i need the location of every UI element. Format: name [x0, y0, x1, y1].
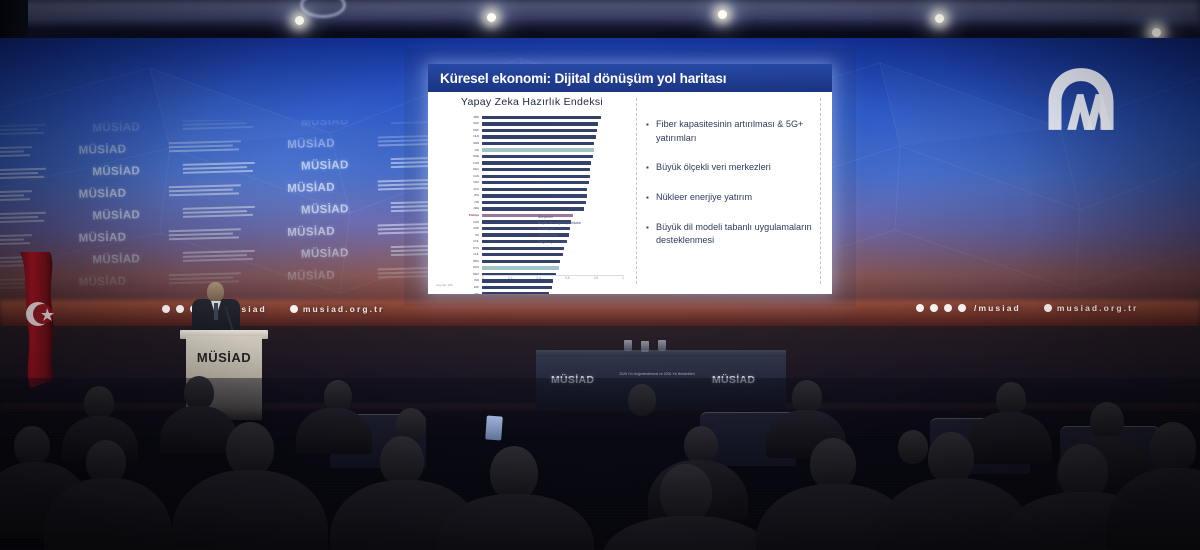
- chart-bar: [482, 266, 559, 269]
- website-group: musiad.org.tr: [1044, 303, 1139, 313]
- chart-bar-label: CHN: [460, 221, 482, 224]
- chart-legend-item: Regülasyon & etik: [538, 239, 581, 245]
- globe-icon: [290, 305, 298, 313]
- chart-bar-label: ZAF: [460, 286, 482, 289]
- audience-head: [628, 384, 656, 416]
- table-subtitle: 2025 Yılı Değerlendirmesi ve 2026 Yılı B…: [616, 372, 698, 377]
- twitter-icon: [930, 304, 938, 312]
- chart-bar-label: JPN: [460, 194, 482, 197]
- ai-readiness-chart: Yapay Zeka Hazırlık Endeksi ABDSGPDNKNLD…: [434, 94, 630, 292]
- chart-x-ticks: 00,20,40,60,81: [482, 276, 624, 280]
- facebook-icon: [916, 304, 924, 312]
- audience-head: [184, 376, 214, 410]
- chart-bar-label: AUS: [460, 188, 482, 191]
- ceiling-spotlight: [935, 14, 944, 23]
- chart-bar: [482, 161, 591, 164]
- chart-bar: [482, 135, 596, 138]
- website-url: musiad.org.tr: [1057, 303, 1139, 313]
- bullet-marker-icon: ▪: [646, 161, 656, 175]
- chart-bar-label: POL: [460, 240, 482, 243]
- audience-head: [660, 464, 712, 522]
- audience-head: [810, 438, 856, 490]
- audience-head: [14, 426, 50, 466]
- turkish-flag: [14, 252, 68, 388]
- social-handle: /musiad: [974, 303, 1021, 313]
- chart-bar-label: MYS: [460, 247, 482, 250]
- chart-bar: [482, 188, 587, 191]
- slide-bullet-text: Büyük dil modeli tabanlı uygulamaların d…: [656, 221, 818, 248]
- website-group: musiad.org.tr: [290, 304, 385, 314]
- chart-x-tick-label: 1: [622, 276, 624, 280]
- podium-logo: MÜSİAD: [186, 350, 262, 365]
- chart-x-tick-label: 0,8: [594, 276, 598, 280]
- chart-bar-label: RUS: [460, 266, 482, 269]
- slide-body: Yapay Zeka Hazırlık Endeksi ABDSGPDNKNLD…: [428, 92, 832, 294]
- chart-bar-label: Türkiye: [460, 214, 482, 217]
- chart-x-tick-label: 0,6: [565, 276, 569, 280]
- chart-x-tick-label: 0,2: [508, 276, 512, 280]
- youtube-icon: [958, 304, 966, 312]
- audience-phone: [485, 415, 503, 440]
- slide-bullet-list: ▪Fiber kapasitesinin artırılması & 5G+ y…: [646, 118, 818, 264]
- chart-bar: [482, 116, 601, 119]
- chart-bar: [482, 155, 593, 158]
- slide-bullet: ▪Büyük dil modeli tabanlı uygulamaların …: [646, 221, 818, 248]
- chart-bar: [482, 142, 594, 145]
- chart-bar-label: BRA: [460, 260, 482, 263]
- chart-bar-label: ABD: [460, 116, 482, 119]
- chart-bar-label: ITA: [460, 234, 482, 237]
- chart-bar: [482, 260, 560, 263]
- audience-head: [684, 426, 718, 464]
- audience-head: [380, 436, 424, 486]
- conference-hall-scene: MÜSİAD MÜSİAD MÜSİAD MÜSİAD MÜSİAD MÜSİA…: [0, 0, 1200, 550]
- chart-bar: [482, 201, 586, 204]
- slide-bullet-text: Büyük ölçekli veri merkezleri: [656, 161, 771, 175]
- slide-divider-right: [820, 98, 821, 284]
- slide-bullet: ▪Büyük ölçekli veri merkezleri: [646, 161, 818, 175]
- facebook-icon: [162, 305, 170, 313]
- social-bar-right: /musiad musiad.org.tr: [916, 303, 1138, 313]
- chart-bar-label: SGP: [460, 122, 482, 125]
- speaker-head: [207, 282, 224, 302]
- bullet-marker-icon: ▪: [646, 221, 656, 248]
- audience-head: [84, 386, 114, 420]
- chart-legend: BileşenlerBeşeri sermaye & politikalarİn…: [538, 214, 581, 245]
- chart-bar-label: NLD: [460, 135, 482, 138]
- water-glass: [641, 341, 649, 352]
- slide-title: Küresel ekonomi: Dijital dönüşüm yol har…: [428, 71, 726, 86]
- chart-bar-label: KOR: [460, 162, 482, 165]
- audience-head: [226, 422, 274, 476]
- chart-bar-row: IDN: [460, 291, 624, 294]
- audience-head: [928, 432, 974, 484]
- chart-footnote: Kaynak: IMF: [436, 283, 453, 287]
- slide-bullet: ▪Nükleer enerjiye yatırım: [646, 191, 818, 205]
- ceiling-spotlight: [295, 16, 304, 25]
- ceiling-shadow-band: [0, 18, 1200, 40]
- audience-head: [792, 380, 822, 414]
- chart-title: Yapay Zeka Hazırlık Endeksi: [434, 96, 630, 108]
- chart-bar: [482, 175, 590, 178]
- chart-x-tick-label: 0,4: [536, 276, 540, 280]
- audience-head: [996, 382, 1026, 416]
- chart-x-tick-label: 0: [482, 276, 484, 280]
- ceiling-spotlight: [718, 10, 727, 19]
- audience-head: [1090, 402, 1124, 440]
- chart-bar: [482, 129, 597, 132]
- chart-bar: [482, 207, 584, 210]
- audience-head: [1150, 422, 1196, 474]
- website-url: musiad.org.tr: [303, 304, 385, 314]
- slide-bullet-text: Nükleer enerjiye yatırım: [656, 191, 752, 205]
- chart-bar-label: DNK: [460, 129, 482, 132]
- chart-bar-label: IND: [460, 279, 482, 282]
- chart-bar-label: ISR: [460, 201, 482, 204]
- speaker-tie: [214, 303, 218, 320]
- ceiling-spotlight: [1152, 28, 1161, 37]
- chart-bar-label: FIN: [460, 149, 482, 152]
- chart-bar-label: CHL: [460, 253, 482, 256]
- audience-head: [898, 430, 928, 464]
- chart-bar: [482, 194, 587, 197]
- chart-bar: [482, 247, 564, 250]
- chart-bar-label: GBR: [460, 142, 482, 145]
- water-glass: [658, 340, 666, 351]
- chart-bar-label: MEX: [460, 273, 482, 276]
- slide-divider-left: [636, 98, 637, 284]
- bullet-marker-icon: ▪: [646, 191, 656, 205]
- aa-watermark-logo: [1040, 60, 1122, 138]
- chart-bar-label: ARE: [460, 207, 482, 210]
- chart-bar-label: FRA: [460, 181, 482, 184]
- audience: [0, 378, 1200, 550]
- instagram-icon: [944, 304, 952, 312]
- slide-title-bar: Küresel ekonomi: Dijital dönüşüm yol har…: [428, 64, 832, 92]
- chart-bar-label: ESP: [460, 227, 482, 230]
- slide-bullet-text: Fiber kapasitesinin artırılması & 5G+ ya…: [656, 118, 818, 145]
- ceiling-spotlight: [487, 13, 496, 22]
- slide-bullet: ▪Fiber kapasitesinin artırılması & 5G+ y…: [646, 118, 818, 145]
- chart-bar: [482, 181, 589, 184]
- chart-bar-label: IDN: [460, 293, 482, 294]
- chart-bar-label: SWE: [460, 155, 482, 158]
- chart-bar: [482, 168, 590, 171]
- presentation-slide[interactable]: Küresel ekonomi: Dijital dönüşüm yol har…: [428, 64, 832, 294]
- chart-bar: [482, 122, 598, 125]
- chart-bar: [482, 286, 552, 289]
- globe-icon: [1044, 304, 1052, 312]
- water-glass: [624, 340, 632, 351]
- chart-bar-label: CAN: [460, 175, 482, 178]
- chart-bar: [482, 253, 563, 256]
- twitter-icon: [176, 305, 184, 313]
- bullet-marker-icon: ▪: [646, 118, 656, 145]
- chart-bar-label: DEU: [460, 168, 482, 171]
- audience-head: [490, 446, 538, 500]
- chart-bar: [482, 292, 549, 294]
- chart-bars: ABDSGPDNKNLDGBRFINSWEKORDEUCANFRAAUSJPNI…: [460, 114, 624, 294]
- chart-bar: [482, 148, 594, 151]
